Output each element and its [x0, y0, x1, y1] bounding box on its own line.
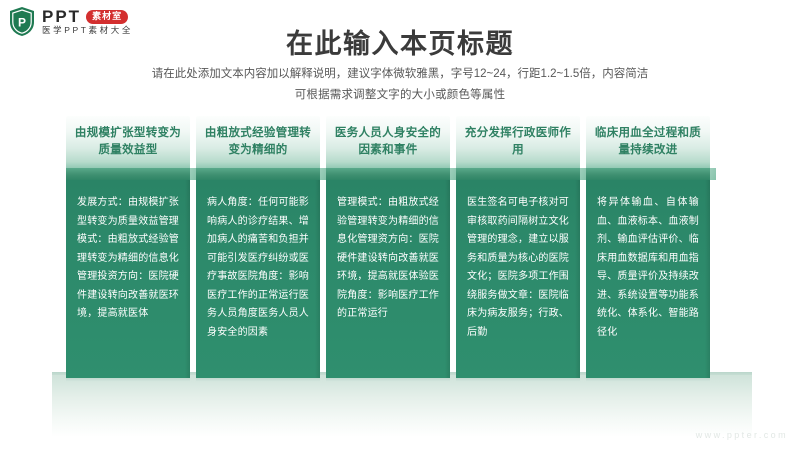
- column-2-body-panel: 病人角度：任何可能影响病人的诊疗结果、增加病人的痛苦和负担并可能引发医疗纠纷或医…: [196, 180, 320, 378]
- column-1-base-shadow: [66, 378, 190, 382]
- column-4-body-text: 医生签名可电子核对可审核取药间隔树立文化管理的理念，建立以服务和质量为核心的医院…: [467, 194, 569, 342]
- column-1-cap: 由规模扩张型转变为质量效益型: [66, 116, 190, 168]
- subtitle-line-1: 请在此处添加文本内容加以解释说明，建议字体微软雅黑，字号12~24，行距1.2~…: [90, 64, 710, 85]
- column-3-lip: [326, 168, 450, 180]
- column-3[interactable]: 医务人员人身安全的因素和事件 管理模式：由粗放式经验管理转变为精细的信息化管理资…: [326, 116, 450, 378]
- column-3-body-panel: 管理模式：由粗放式经验管理转变为精细的信息化管理资方向：医院硬件建设转向改善就医…: [326, 180, 450, 378]
- column-3-cap: 医务人员人身安全的因素和事件: [326, 116, 450, 168]
- column-1-heading: 由规模扩张型转变为质量效益型: [72, 125, 184, 158]
- column-1-body-text: 发展方式：由规模扩张型转变为质量效益管理模式：由粗放式经验管理转变为精细的信息化…: [77, 194, 179, 324]
- column-2-body-text: 病人角度：任何可能影响病人的诊疗结果、增加病人的痛苦和负担并可能引发医疗纠纷或医…: [207, 194, 309, 342]
- page-title: 在此输入本页标题: [0, 22, 800, 61]
- column-4-heading: 充分发挥行政医师作用: [462, 125, 574, 158]
- column-3-base-shadow: [326, 378, 450, 382]
- floor-surface: [52, 375, 752, 437]
- site-watermark: www.ppter.com: [696, 430, 788, 440]
- column-5-base-shadow: [586, 378, 710, 382]
- column-4-lip: [456, 168, 580, 180]
- column-3-body-text: 管理模式：由粗放式经验管理转变为精细的信息化管理资方向：医院硬件建设转向改善就医…: [337, 194, 439, 324]
- column-2-cap: 由粗放式经验管理转变为精细的: [196, 116, 320, 168]
- column-2-lip: [196, 168, 320, 180]
- column-5-lip: [586, 168, 710, 180]
- column-2-base-shadow: [196, 378, 320, 382]
- column-5-cap: 临床用血全过程和质量持续改进: [586, 116, 710, 168]
- column-group: 由规模扩张型转变为质量效益型 发展方式：由规模扩张型转变为质量效益管理模式：由粗…: [66, 116, 738, 378]
- column-5-body-panel: 将异体输血、自体输血、血液标本、血液制剂、输血评估评价、临床用血数据库和用血指导…: [586, 180, 710, 378]
- column-1-lip: [66, 168, 190, 180]
- column-5-heading: 临床用血全过程和质量持续改进: [592, 125, 704, 158]
- column-1[interactable]: 由规模扩张型转变为质量效益型 发展方式：由规模扩张型转变为质量效益管理模式：由粗…: [66, 116, 190, 378]
- column-5[interactable]: 临床用血全过程和质量持续改进 将异体输血、自体输血、血液标本、血液制剂、输血评估…: [586, 116, 710, 378]
- column-2[interactable]: 由粗放式经验管理转变为精细的 病人角度：任何可能影响病人的诊疗结果、增加病人的痛…: [196, 116, 320, 378]
- column-4-base-shadow: [456, 378, 580, 382]
- column-5-body-text: 将异体输血、自体输血、血液标本、血液制剂、输血评估评价、临床用血数据库和用血指导…: [597, 194, 699, 342]
- column-4[interactable]: 充分发挥行政医师作用 医生签名可电子核对可审核取药间隔树立文化管理的理念，建立以…: [456, 116, 580, 378]
- column-4-body-panel: 医生签名可电子核对可审核取药间隔树立文化管理的理念，建立以服务和质量为核心的医院…: [456, 180, 580, 378]
- column-2-heading: 由粗放式经验管理转变为精细的: [202, 125, 314, 158]
- column-3-heading: 医务人员人身安全的因素和事件: [332, 125, 444, 158]
- column-4-cap: 充分发挥行政医师作用: [456, 116, 580, 168]
- subtitle-line-2: 可根据需求调整文字的大小或颜色等属性: [90, 85, 710, 106]
- column-1-body-panel: 发展方式：由规模扩张型转变为质量效益管理模式：由粗放式经验管理转变为精细的信息化…: [66, 180, 190, 378]
- page-subtitle: 请在此处添加文本内容加以解释说明，建议字体微软雅黑，字号12~24，行距1.2~…: [90, 64, 710, 107]
